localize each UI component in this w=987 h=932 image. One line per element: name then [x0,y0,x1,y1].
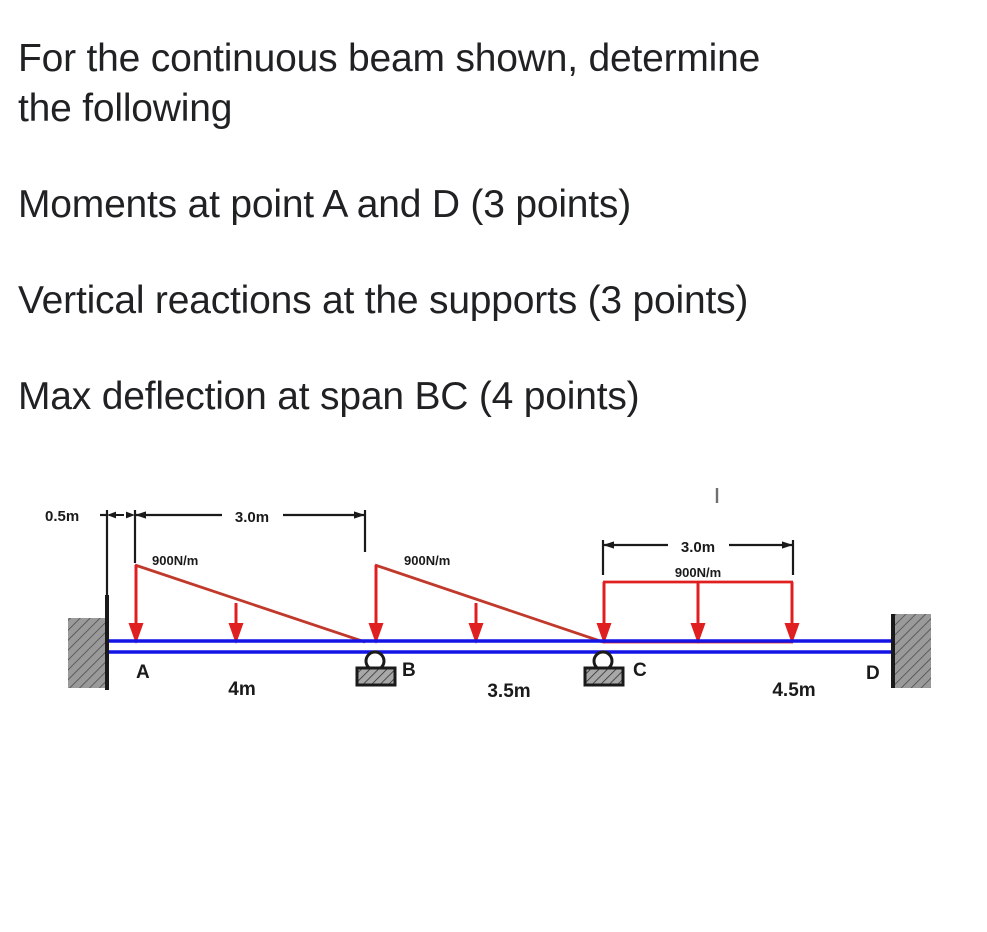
triangular-load-bc: 900N/m [369,553,604,644]
question-paragraph-moments: Moments at point A and D (3 points) [18,180,968,230]
question-line: Max deflection at span BC (4 points) [18,372,968,422]
dimension-label-offset-a: 0.5m [45,508,79,525]
span-label-cd: 4.5m [772,680,815,701]
dimension-load1-extent: 3.0m [135,509,365,552]
fixed-wall-right [893,614,931,688]
beam [100,641,900,652]
dimension-label-load3-extent: 3.0m [681,539,715,556]
load-label-uniform-cd: 900N/m [675,565,721,580]
question-paragraph-intro: For the continuous beam shown, determine… [18,34,968,134]
span-label-bc: 3.5m [487,681,530,702]
load-label-triangular-bc: 900N/m [404,553,450,568]
node-label-a: A [136,662,150,683]
dimension-offset-a: 0.5m [45,508,135,595]
fixed-wall-left [68,595,107,690]
triangular-load-ab: 900N/m [129,553,366,644]
roller-support-c [585,652,623,685]
question-paragraph-deflection: Max deflection at span BC (4 points) [18,372,968,422]
page-root: For the continuous beam shown, determine… [0,0,987,932]
dimension-label-load1-extent: 3.0m [235,509,269,526]
beam-diagram-figure: 0.5m 3.0m 3.0m [0,470,987,720]
node-label-d: D [866,663,880,684]
roller-support-b [357,652,395,685]
question-line: Vertical reactions at the supports (3 po… [18,276,968,326]
node-label-c: C [633,660,647,681]
span-label-ab: 4m [228,679,255,700]
load-label-triangular-ab: 900N/m [152,553,198,568]
uniform-load-cd: 900N/m [597,565,800,644]
question-line: For the continuous beam shown, determine [18,34,968,84]
question-paragraph-reactions: Vertical reactions at the supports (3 po… [18,276,968,326]
question-text-block: For the continuous beam shown, determine… [18,34,968,422]
node-label-b: B [402,660,416,681]
question-line: the following [18,84,968,134]
question-line: Moments at point A and D (3 points) [18,180,968,230]
